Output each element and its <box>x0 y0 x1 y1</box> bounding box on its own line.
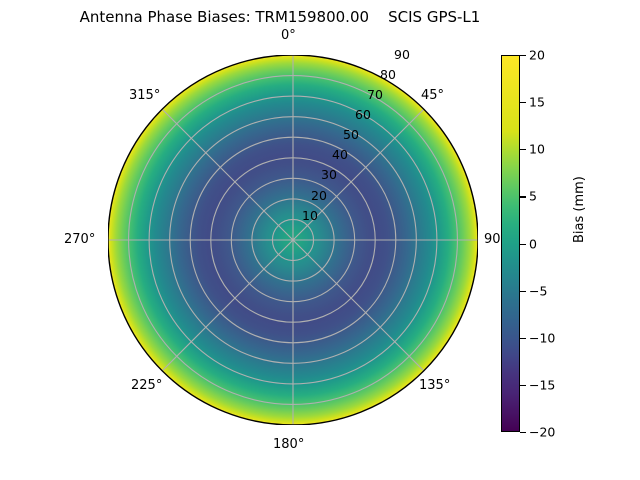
radial-tick-80: 80 <box>380 67 396 82</box>
radial-tick-70: 70 <box>367 87 383 102</box>
colorbar-tickmark-5 <box>520 196 526 197</box>
angular-tick-225: 225° <box>131 378 162 393</box>
polar-axes: 10 20 30 40 50 60 70 80 90 <box>108 55 478 425</box>
colorbar-tickmark-10 <box>520 149 526 150</box>
colorbar-label-m20: −20 <box>529 425 555 440</box>
radial-tick-90: 90 <box>394 47 410 62</box>
angular-gridlines <box>108 55 478 425</box>
colorbar-tickmark-m10 <box>520 338 526 339</box>
angular-tick-315: 315° <box>129 88 160 103</box>
radial-tick-60: 60 <box>355 107 371 122</box>
colorbar-tickmark-20 <box>520 55 526 56</box>
radial-tick-40: 40 <box>332 147 348 162</box>
colorbar-tickmark-m20 <box>520 432 526 433</box>
radial-tick-10: 10 <box>302 208 318 223</box>
radial-tick-50: 50 <box>343 127 359 142</box>
colorbar-tickmark-0 <box>520 244 526 245</box>
colorbar-label-m5: −5 <box>529 283 547 298</box>
polar-plot-svg <box>108 55 478 425</box>
angular-tick-180: 180° <box>273 437 304 452</box>
colorbar-label-0: 0 <box>529 236 537 251</box>
angular-tick-0: 0° <box>281 28 296 43</box>
colorbar-label-m15: −15 <box>529 377 555 392</box>
angular-tick-45: 45° <box>421 88 444 103</box>
radial-tick-30: 30 <box>321 167 337 182</box>
colorbar-label-m10: −10 <box>529 330 555 345</box>
colorbar-label-20: 20 <box>529 48 545 63</box>
figure-title: Antenna Phase Biases: TRM159800.00 SCIS … <box>0 8 560 26</box>
colorbar-label-15: 15 <box>529 95 545 110</box>
colorbar-label-5: 5 <box>529 189 537 204</box>
colorbar-axis-label: Bias (mm) <box>572 176 587 243</box>
angular-tick-270: 270° <box>64 232 95 247</box>
colorbar-gradient <box>501 55 520 432</box>
colorbar[interactable] <box>501 55 520 432</box>
colorbar-tickmark-15 <box>520 102 526 103</box>
angular-tick-135: 135° <box>419 378 450 393</box>
colorbar-tickmark-m5 <box>520 291 526 292</box>
matplotlib-figure: Antenna Phase Biases: TRM159800.00 SCIS … <box>0 0 640 480</box>
colorbar-tickmark-m15 <box>520 385 526 386</box>
radial-tick-20: 20 <box>311 188 327 203</box>
colorbar-label-10: 10 <box>529 142 545 157</box>
